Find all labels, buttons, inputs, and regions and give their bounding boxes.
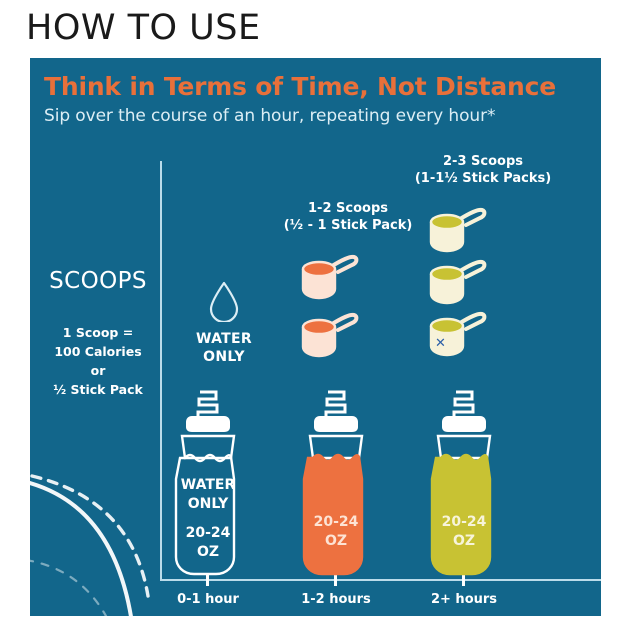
bottle-label-orange: 20-24 OZ: [290, 513, 382, 551]
scoop-cup-yellow-2: [426, 258, 488, 306]
panel-subtitle: Sip over the course of an hour, repeatin…: [44, 106, 495, 126]
water-only-caption: WATER ONLY: [178, 330, 270, 366]
axis-label-0-1-hour: 0-1 hour: [138, 592, 278, 607]
scoop-cup-yellow-1: [426, 206, 488, 254]
infographic-page: HOW TO USE Think in Terms of Time, Not D…: [0, 0, 631, 631]
water-only-line-1: WATER: [178, 330, 270, 348]
scoops-legend-line-3: or: [34, 361, 162, 380]
axis-label-1-2-hours: 1-2 hours: [266, 592, 406, 607]
scoops-legend-line-2: 100 Calories: [34, 342, 162, 361]
scoop-caption-3-line-1: 2-3 Scoops: [388, 153, 578, 170]
page-title: HOW TO USE: [26, 6, 261, 50]
cursor-x-marker: ✕: [435, 338, 446, 349]
scoop-caption-column-2: 1-2 Scoops (½ - 1 Stick Pack): [258, 200, 438, 234]
scoops-heading: SCOOPS: [38, 268, 158, 294]
bottle-1-line-2: ONLY: [162, 495, 254, 514]
bottle-1-spacer: [162, 514, 254, 524]
infographic-panel: Think in Terms of Time, Not Distance Sip…: [30, 58, 601, 616]
scoop-caption-3-line-2: (1-1½ Stick Packs): [388, 170, 578, 187]
bottle-2-line-3: 20-24: [290, 513, 382, 532]
scoop-cup-orange-1: [298, 253, 360, 301]
bottle-1-line-4: OZ: [162, 543, 254, 562]
bottle-1-line-3: 20-24: [162, 524, 254, 543]
bottle-label-water-only: WATER ONLY 20-24 OZ: [162, 476, 254, 562]
panel-title: Think in Terms of Time, Not Distance: [44, 72, 556, 101]
bottle-3-line-3: 20-24: [418, 513, 510, 532]
scoop-caption-2-line-1: 1-2 Scoops: [258, 200, 438, 217]
scoop-caption-2-line-2: (½ - 1 Stick Pack): [258, 217, 438, 234]
scoops-legend-line-4: ½ Stick Pack: [34, 380, 162, 399]
axis-label-2-plus-hours: 2+ hours: [394, 592, 534, 607]
scoops-legend-line-1: 1 Scoop =: [34, 323, 162, 342]
water-only-line-2: ONLY: [178, 348, 270, 366]
scoop-cup-orange-2: [298, 311, 360, 359]
scoops-legend: 1 Scoop = 100 Calories or ½ Stick Pack: [34, 323, 162, 399]
scoop-caption-column-3: 2-3 Scoops (1-1½ Stick Packs): [388, 153, 578, 187]
bottle-3-line-4: OZ: [418, 532, 510, 551]
bottle-label-yellow: 20-24 OZ: [418, 513, 510, 551]
bottle-2-line-4: OZ: [290, 532, 382, 551]
axis-horizontal-line: [160, 579, 601, 581]
bottle-1-line-1: WATER: [162, 476, 254, 495]
water-drop-icon: [208, 280, 240, 322]
decorative-arcs: [30, 448, 170, 616]
